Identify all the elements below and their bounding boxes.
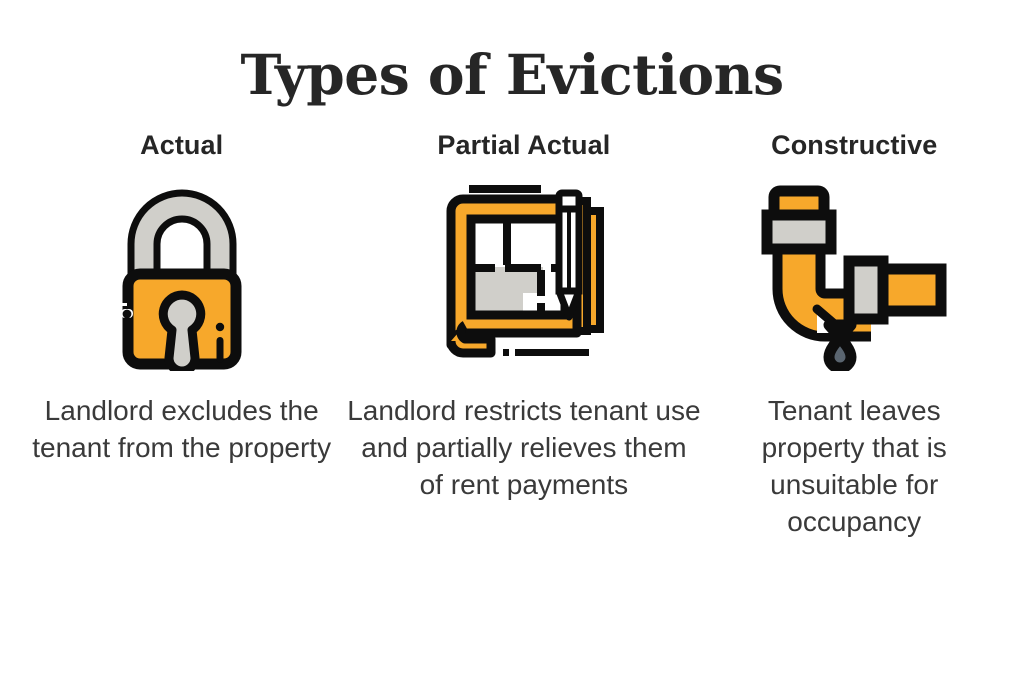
blueprint-floorplan-icon xyxy=(431,181,617,371)
column-caption-actual: Landlord excludes the tenant from the pr… xyxy=(32,393,332,467)
page-title: Types of Evictions xyxy=(240,46,783,104)
column-caption-constructive: Tenant leaves property that is unsuitabl… xyxy=(716,393,992,541)
leaking-pipe-icon xyxy=(761,181,947,371)
eviction-types-columns: Actual xyxy=(0,130,1024,541)
icon-container-partial-actual xyxy=(431,171,617,381)
eviction-type-card-actual: Actual xyxy=(18,130,345,467)
icon-container-constructive xyxy=(761,171,947,381)
column-heading-actual: Actual xyxy=(140,130,223,161)
column-heading-partial-actual: Partial Actual xyxy=(437,130,610,161)
icon-container-actual xyxy=(106,171,258,381)
infographic-poster: Types of Evictions Actual xyxy=(0,0,1024,682)
column-heading-constructive: Constructive xyxy=(771,130,937,161)
padlock-icon xyxy=(106,181,258,371)
eviction-type-card-constructive: Constructive xyxy=(702,130,1006,541)
column-caption-partial-actual: Landlord restricts tenant use and partia… xyxy=(346,393,702,504)
eviction-type-card-partial-actual: Partial Actual xyxy=(345,130,702,504)
